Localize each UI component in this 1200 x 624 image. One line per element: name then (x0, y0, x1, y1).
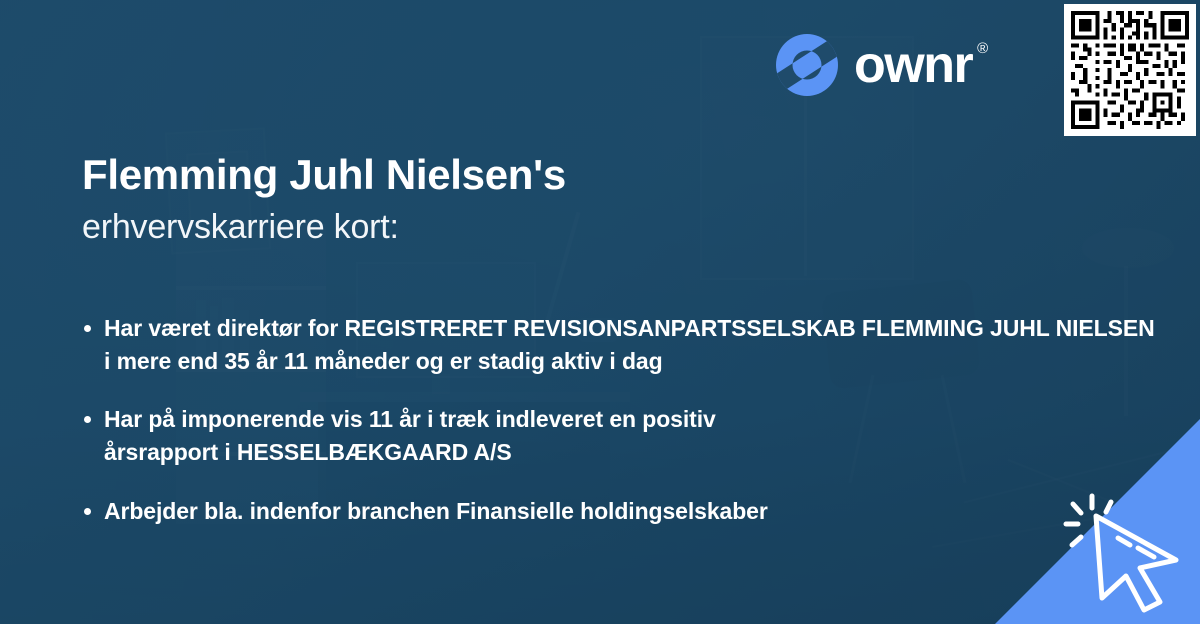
page-title: Flemming Juhl Nielsen's erhvervskarriere… (82, 150, 982, 248)
brand-wordmark-text: ownr (854, 36, 972, 94)
career-facts-list: Har været direktør for REGISTRERET REVIS… (82, 312, 1200, 527)
list-item-line-2: i mere end 35 år 11 måneder og er stadig… (104, 345, 1200, 378)
qr-code[interactable] (1064, 4, 1196, 136)
list-item: Arbejder bla. indenfor branchen Finansie… (82, 495, 1200, 528)
list-item-line-1: Har været direktør for REGISTRERET REVIS… (104, 315, 1155, 341)
career-summary-card: ownr® (0, 0, 1200, 624)
list-item-line-1: Har på imponerende vis 11 år i træk indl… (104, 406, 716, 432)
ownr-circle-slash-logo-icon (776, 34, 838, 96)
bullet-icon (84, 325, 91, 332)
brand-wordmark: ownr® (854, 39, 988, 91)
brand-logo[interactable]: ownr® (776, 34, 988, 96)
list-item: Har været direktør for REGISTRERET REVIS… (82, 312, 1200, 377)
list-item-line-1: Arbejder bla. indenfor branchen Finansie… (104, 498, 768, 524)
click-cursor-icon (1056, 482, 1188, 614)
list-item-line-2: årsrapport i HESSELBÆKGAARD A/S (104, 436, 1200, 469)
page-title-name: Flemming Juhl Nielsen's (82, 150, 982, 200)
bullet-icon (84, 508, 91, 515)
page-title-subtitle: erhvervskarriere kort: (82, 206, 982, 249)
registered-trademark-icon: ® (977, 41, 988, 56)
list-item: Har på imponerende vis 11 år i træk indl… (82, 403, 1200, 468)
qr-code-icon (1071, 11, 1189, 129)
bullet-icon (84, 416, 91, 423)
